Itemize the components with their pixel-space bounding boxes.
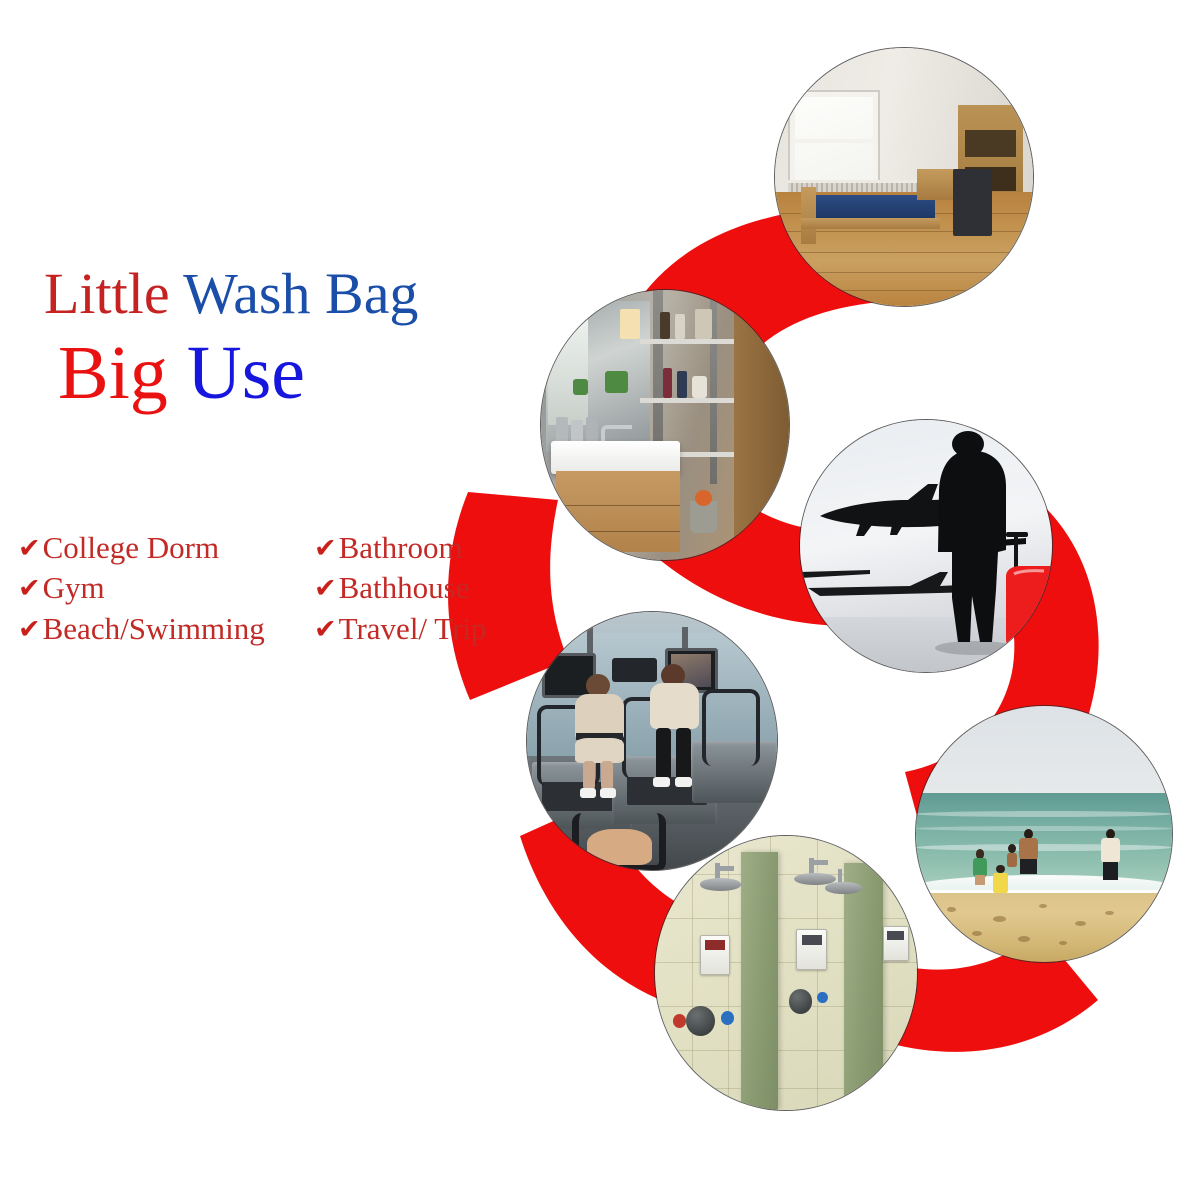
feature-item-college-dorm: ✔ College Dorm — [18, 528, 314, 568]
headline-line-2: Big Use — [58, 335, 514, 413]
red-suitcase-icon — [1006, 532, 1052, 650]
feature-item-travel-trip: ✔ Travel/ Trip — [314, 609, 529, 649]
bathroom-plant-1 — [605, 371, 627, 393]
bathhouse-cold-indicator — [721, 1011, 734, 1025]
bathroom-fruit — [695, 490, 712, 506]
bathroom-bottle-4 — [663, 368, 673, 398]
circle-image-bathhouse — [655, 836, 917, 1110]
feature-item-gym: ✔ Gym — [18, 568, 314, 608]
circle-image-college-dorm — [775, 48, 1033, 306]
bathhouse-card-reader-1[interactable] — [700, 935, 731, 975]
gym-person-1 — [572, 674, 627, 798]
headline-word-wash-bag: Wash Bag — [183, 261, 418, 326]
feature-list: ✔ College Dorm ✔ Gym ✔ Beach/Swimming ✔ … — [18, 528, 538, 649]
poster-canvas: Little Wash Bag Big Use ✔ College Dorm ✔… — [0, 0, 1200, 1200]
beach-sand — [916, 893, 1172, 962]
feature-item-beach-swimming: ✔ Beach/Swimming — [18, 609, 314, 649]
gym-person-2 — [647, 664, 702, 793]
feature-label: Bathroom — [339, 528, 463, 568]
bathhouse-partition-2 — [844, 863, 883, 1110]
headline-line-1: Little Wash Bag — [44, 264, 514, 323]
dorm-chair — [953, 169, 992, 236]
bathroom-lamp — [620, 309, 640, 339]
bathhouse-shower-head-1 — [700, 863, 742, 890]
feature-label: Beach/Swimming — [43, 609, 265, 649]
beach-swimmer-5 — [1100, 829, 1120, 885]
bathroom-shelf-1 — [640, 339, 734, 344]
bathhouse-mixer-valve-1[interactable] — [686, 1006, 715, 1036]
bathhouse-card-reader-2[interactable] — [796, 929, 827, 969]
travel-silhouettes — [800, 420, 1052, 672]
feature-item-bathhouse: ✔ Bathhouse — [314, 568, 529, 608]
feature-label: College Dorm — [43, 528, 220, 568]
bathroom-bottle-3 — [695, 309, 712, 339]
bathroom-wood-wall — [734, 290, 789, 560]
feature-item-bathroom: ✔ Bathroom — [314, 528, 529, 568]
bathroom-bottle-1 — [660, 312, 670, 339]
beach-swimmer-3 — [1018, 829, 1038, 880]
bathroom-bottle-5 — [677, 371, 687, 398]
feature-label: Gym — [43, 568, 105, 608]
check-icon: ✔ — [18, 531, 41, 566]
circle-image-beach-swimming — [916, 706, 1172, 962]
circle-image-travel-trip — [800, 420, 1052, 672]
beach-swimmer-4 — [1006, 844, 1019, 867]
circle-image-gym — [527, 612, 777, 870]
bathroom-bottle-6 — [692, 376, 707, 398]
check-icon: ✔ — [18, 612, 41, 647]
dorm-mattress — [806, 195, 935, 221]
feature-column-right: ✔ Bathroom ✔ Bathhouse ✔ Travel/ Trip — [314, 528, 529, 649]
feature-column-left: ✔ College Dorm ✔ Gym ✔ Beach/Swimming — [18, 528, 314, 649]
gym-handrail-3 — [702, 689, 760, 765]
bathroom-bottle-2 — [675, 314, 685, 338]
headline-block: Little Wash Bag Big Use — [44, 264, 514, 413]
headline-word-use: Use — [187, 331, 305, 415]
dorm-bed-footboard — [801, 187, 816, 244]
circle-image-bathroom — [541, 290, 789, 560]
bathhouse-mixer-valve-2[interactable] — [789, 989, 813, 1014]
bathhouse-card-reader-3[interactable] — [883, 926, 909, 961]
feature-label: Bathhouse — [339, 568, 470, 608]
headline-word-little: Little — [44, 261, 170, 326]
bathhouse-cold-indicator-2 — [817, 992, 827, 1003]
bathroom-plant-2 — [573, 379, 588, 395]
check-icon: ✔ — [314, 612, 337, 647]
dorm-window — [790, 92, 877, 190]
bathroom-shelf-2 — [640, 398, 734, 403]
dorm-bed-rail — [801, 218, 940, 228]
gym-foreground-bar — [572, 813, 666, 870]
bathroom-sink — [551, 441, 680, 473]
check-icon: ✔ — [18, 571, 41, 606]
bathroom-trash-bin — [546, 522, 578, 560]
check-icon: ✔ — [314, 571, 337, 606]
feature-label: Travel/ Trip — [339, 609, 487, 649]
headline-word-big: Big — [58, 331, 168, 415]
bathroom-window — [548, 317, 588, 425]
bathhouse-partition-1 — [741, 852, 778, 1110]
beach-sky — [916, 706, 1172, 793]
check-icon: ✔ — [314, 531, 337, 566]
beach-swimmer-1 — [972, 849, 987, 885]
bathhouse-shower-head-3 — [825, 869, 862, 894]
beach-swimmer-2 — [993, 865, 1008, 898]
